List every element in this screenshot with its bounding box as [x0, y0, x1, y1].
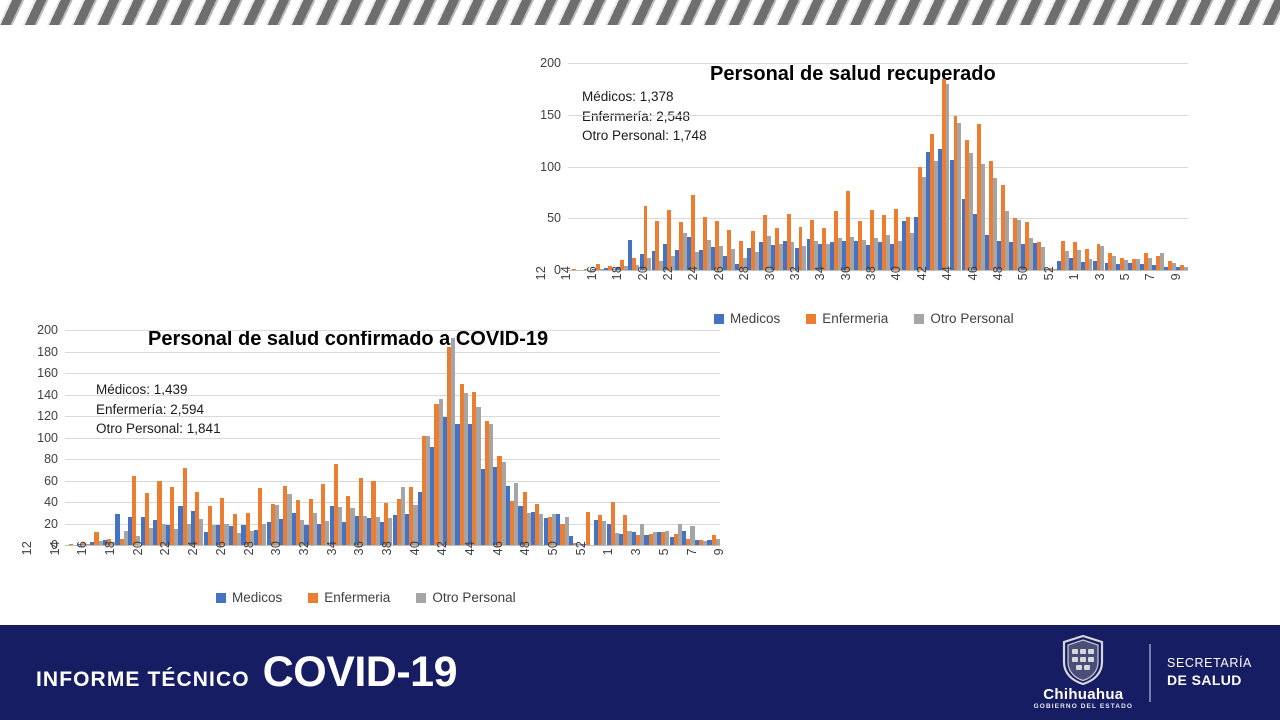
bar-group	[628, 63, 640, 270]
bar-group	[997, 63, 1009, 270]
x-axis-cell	[560, 541, 574, 555]
bar-group	[204, 330, 217, 545]
bar-group	[878, 63, 890, 270]
x-axis-cell	[1157, 266, 1168, 280]
x-axis-cell: 3	[1093, 266, 1107, 280]
x-axis: 1214161820222426283032343638404244464850…	[534, 266, 1194, 280]
legend-swatch-otro-personal	[914, 314, 924, 324]
x-axis-tick-label: 42	[915, 266, 929, 280]
y-axis-tick-label: 80	[44, 452, 65, 466]
x-axis-tick-label: 28	[242, 541, 256, 555]
x-axis-tick-label: 20	[131, 541, 145, 555]
x-axis-cell	[256, 541, 270, 555]
x-axis-cell	[827, 266, 838, 280]
legend-label-medicos: Medicos	[232, 590, 282, 605]
bar-group	[616, 63, 628, 270]
bar-group	[592, 63, 604, 270]
gobierno-chihuahua-logo: Chihuahua GOBIERNO DEL ESTADO	[1034, 635, 1133, 710]
bar-group	[854, 63, 866, 270]
x-axis-cell	[878, 266, 889, 280]
bar-group	[78, 330, 91, 545]
x-axis-cell	[145, 541, 159, 555]
x-axis-cell: 16	[75, 541, 89, 555]
x-axis-cell	[1107, 266, 1118, 280]
decorative-stripe-band	[0, 0, 1280, 25]
x-axis-cell	[903, 266, 914, 280]
x-axis-tick-label: 9	[1169, 266, 1183, 280]
x-axis-tick-label: 1	[601, 541, 615, 555]
x-axis-cell: 42	[915, 266, 929, 280]
x-axis-cell: 30	[763, 266, 777, 280]
bar-group	[1152, 63, 1164, 270]
bar-group	[468, 330, 481, 545]
x-axis-cell: 38	[380, 541, 394, 555]
chart-legend: Medicos Enfermeria Otro Personal	[216, 590, 516, 605]
footer-title: INFORME TÉCNICO COVID-19	[36, 648, 457, 697]
x-axis-tick-label: 48	[991, 266, 1005, 280]
bar-group	[644, 330, 657, 545]
bar-group	[405, 330, 418, 545]
x-axis-tick-label: 50	[1016, 266, 1030, 280]
y-axis-tick-label: 20	[44, 517, 65, 531]
bar-group	[569, 330, 582, 545]
x-axis-tick-label: 7	[1143, 266, 1157, 280]
bar-group	[985, 63, 997, 270]
chart-personal-recuperado: Personal de salud recuperado Médicos: 1,…	[534, 55, 1194, 340]
x-axis-tick-label: 5	[1118, 266, 1132, 280]
footer-bar: INFORME TÉCNICO COVID-19 Chihuahua	[0, 625, 1280, 720]
bar-group	[493, 330, 506, 545]
x-axis-cell: 34	[813, 266, 827, 280]
legend-swatch-enfermeria	[806, 314, 816, 324]
x-axis-cell: 50	[546, 541, 560, 555]
x-axis-cell	[62, 541, 76, 555]
bar-group	[241, 330, 254, 545]
x-axis-tick-label: 38	[864, 266, 878, 280]
x-axis-tick-label: 14	[559, 266, 573, 280]
footer-main-title: COVID-19	[263, 648, 457, 697]
bar-group	[1164, 63, 1176, 270]
bar-group	[687, 63, 699, 270]
x-axis-cell: 24	[686, 266, 700, 280]
x-axis-tick-label: 3	[1093, 266, 1107, 280]
bar-group	[973, 63, 985, 270]
bar-group	[1116, 63, 1128, 270]
x-axis-cell: 9	[712, 541, 726, 555]
bar-group	[153, 330, 166, 545]
x-axis-cell	[726, 266, 737, 280]
x-axis-cell: 32	[788, 266, 802, 280]
bar-group	[329, 330, 342, 545]
bar-group	[556, 330, 569, 545]
x-axis-cell: 18	[103, 541, 117, 555]
x-axis-cell: 36	[352, 541, 366, 555]
x-axis-cell	[954, 266, 965, 280]
x-axis-cell	[588, 541, 602, 555]
x-axis-cell	[699, 541, 713, 555]
x-axis-tick-label: 20	[636, 266, 650, 280]
x-axis-cell: 22	[661, 266, 675, 280]
bar-group	[1021, 63, 1033, 270]
bar-group	[759, 63, 771, 270]
bar-group	[580, 63, 592, 270]
bar-group	[1128, 63, 1140, 270]
y-axis-tick-label: 150	[540, 108, 568, 122]
shield-icon	[1062, 635, 1104, 685]
x-axis-tick-label: 44	[463, 541, 477, 555]
x-axis-cell	[366, 541, 380, 555]
x-axis-cell	[726, 541, 740, 555]
x-axis-cell: 50	[1016, 266, 1030, 280]
bar-group	[663, 63, 675, 270]
y-axis-tick-label: 180	[37, 345, 65, 359]
x-axis-cell: 28	[737, 266, 751, 280]
bar-group	[926, 63, 938, 270]
bar-group	[771, 63, 783, 270]
x-axis-tick-label: 22	[661, 266, 675, 280]
x-axis-cell: 22	[158, 541, 172, 555]
x-axis-tick-label: 3	[629, 541, 643, 555]
bar-group	[1033, 63, 1045, 270]
x-axis-cell	[228, 541, 242, 555]
x-axis-tick-label: 46	[491, 541, 505, 555]
y-axis-tick-label: 40	[44, 495, 65, 509]
x-axis-tick-label: 38	[380, 541, 394, 555]
x-axis-cell	[802, 266, 813, 280]
x-axis-cell: 32	[297, 541, 311, 555]
x-axis-cell: 40	[889, 266, 903, 280]
x-axis-cell: 34	[325, 541, 339, 555]
x-axis-cell	[853, 266, 864, 280]
y-axis-tick-label: 50	[547, 211, 568, 225]
x-axis-cell: 20	[131, 541, 145, 555]
x-axis: 1214161820222426283032343638404244464850…	[20, 541, 740, 555]
x-axis-cell: 36	[839, 266, 853, 280]
bar-group	[682, 330, 695, 545]
bar-group	[115, 330, 128, 545]
bar-group	[830, 63, 842, 270]
legend-swatch-enfermeria	[308, 593, 318, 603]
x-axis-cell: 38	[864, 266, 878, 280]
logo-divider	[1149, 644, 1151, 702]
x-axis-tick-label: 36	[839, 266, 853, 280]
x-axis-tick-label: 14	[48, 541, 62, 555]
x-axis-tick-label: 40	[889, 266, 903, 280]
bar-group	[866, 63, 878, 270]
legend-item-otro-personal: Otro Personal	[914, 311, 1013, 326]
x-axis-tick-label: 32	[788, 266, 802, 280]
x-axis-tick-label: 18	[610, 266, 624, 280]
x-axis-cell: 26	[214, 541, 228, 555]
bar-group	[1093, 63, 1105, 270]
x-axis-tick-label: 12	[534, 266, 548, 280]
x-axis-cell	[505, 541, 519, 555]
bar-group	[1140, 63, 1152, 270]
legend-item-otro-personal: Otro Personal	[416, 590, 515, 605]
bar-group	[166, 330, 179, 545]
x-axis-cell	[477, 541, 491, 555]
x-axis-tick-label: 28	[737, 266, 751, 280]
x-axis-tick-label: 26	[214, 541, 228, 555]
x-axis-tick-label: 24	[686, 266, 700, 280]
bar-groups	[65, 330, 720, 545]
bar-group	[657, 330, 670, 545]
secretaria-de-salud-logo: SECRETARÍA DE SALUD	[1167, 656, 1252, 688]
x-axis-cell	[532, 541, 546, 555]
x-axis-cell	[117, 541, 131, 555]
x-axis-cell: 5	[1118, 266, 1132, 280]
bar-group	[141, 330, 154, 545]
bar-group	[1009, 63, 1021, 270]
chart-personal-confirmado: Personal de salud confirmado a COVID-19 …	[20, 322, 740, 617]
plot-area: 020406080100120140160180200	[65, 330, 720, 545]
bar-group	[607, 330, 620, 545]
x-axis-cell: 48	[518, 541, 532, 555]
x-axis-tick-label: 42	[435, 541, 449, 555]
x-axis-tick-label: 12	[20, 541, 34, 555]
bar-group	[632, 330, 645, 545]
bar-group	[747, 63, 759, 270]
x-axis-cell: 52	[1042, 266, 1056, 280]
x-axis-cell: 44	[940, 266, 954, 280]
bar-group	[304, 330, 317, 545]
bar-group	[670, 330, 683, 545]
x-axis-cell	[548, 266, 559, 280]
x-axis-cell: 26	[712, 266, 726, 280]
x-axis-tick-label: 22	[158, 541, 172, 555]
legend-label-enfermeria: Enfermeria	[324, 590, 390, 605]
bar-group	[806, 63, 818, 270]
bar-group	[735, 63, 747, 270]
x-axis-cell: 3	[629, 541, 643, 555]
footer-logos: Chihuahua GOBIERNO DEL ESTADO SECRETARÍA…	[1034, 625, 1252, 720]
legend-swatch-otro-personal	[416, 593, 426, 603]
x-axis-tick-label: 52	[574, 541, 588, 555]
x-axis-tick-label: 32	[297, 541, 311, 555]
x-axis-tick-label: 36	[352, 541, 366, 555]
x-axis-cell: 46	[966, 266, 980, 280]
bar-group	[695, 330, 708, 545]
bar-enfermeria	[132, 476, 136, 545]
x-axis-cell	[422, 541, 436, 555]
x-axis-cell	[643, 541, 657, 555]
x-axis-cell	[671, 541, 685, 555]
bar-group	[890, 63, 902, 270]
bar-group	[481, 330, 494, 545]
x-axis-cell	[1132, 266, 1143, 280]
y-axis-tick-label: 60	[44, 474, 65, 488]
plot-area: 050100150200	[568, 63, 1188, 270]
bar-groups	[568, 63, 1188, 270]
bar-group	[842, 63, 854, 270]
bar-group	[795, 63, 807, 270]
y-axis-tick-label: 140	[37, 388, 65, 402]
bar-group	[455, 330, 468, 545]
x-axis-cell: 18	[610, 266, 624, 280]
bar-group	[191, 330, 204, 545]
x-axis-tick-label: 52	[1042, 266, 1056, 280]
bar-group	[380, 330, 393, 545]
bar-group	[90, 330, 103, 545]
bar-group	[711, 63, 723, 270]
bar-group	[128, 330, 141, 545]
bar-group	[506, 330, 519, 545]
x-axis-cell	[172, 541, 186, 555]
bar-group	[1045, 63, 1057, 270]
chart-legend: Medicos Enfermeria Otro Personal	[714, 311, 1014, 326]
x-axis-cell: 7	[685, 541, 699, 555]
bar-group	[342, 330, 355, 545]
bar-group	[594, 330, 607, 545]
bar-group	[675, 63, 687, 270]
x-axis-tick-label: 7	[685, 541, 699, 555]
bar-enfermeria	[586, 512, 590, 545]
x-axis-cell: 9	[1169, 266, 1183, 280]
x-axis-cell: 1	[1067, 266, 1081, 280]
x-axis-cell	[1056, 266, 1067, 280]
bar-group	[392, 330, 405, 545]
x-axis-tick-label: 5	[657, 541, 671, 555]
bar-group	[818, 63, 830, 270]
bar-group	[1081, 63, 1093, 270]
secretaria-line1: SECRETARÍA	[1167, 656, 1252, 671]
x-axis-tick-label: 24	[186, 541, 200, 555]
bar-group	[723, 63, 735, 270]
x-axis-cell: 12	[20, 541, 34, 555]
x-axis-cell: 30	[269, 541, 283, 555]
bar-group	[619, 330, 632, 545]
bar-group	[581, 330, 594, 545]
bar-group	[699, 63, 711, 270]
legend-item-enfermeria: Enfermeria	[308, 590, 390, 605]
bar-group	[950, 63, 962, 270]
legend-label-otro-personal: Otro Personal	[432, 590, 515, 605]
y-axis-tick-label: 100	[37, 431, 65, 445]
legend-label-enfermeria: Enfermeria	[822, 311, 888, 326]
x-axis-cell	[89, 541, 103, 555]
bar-group	[1104, 63, 1116, 270]
x-axis-cell	[777, 266, 788, 280]
x-axis-tick-label: 30	[763, 266, 777, 280]
x-axis-cell	[573, 266, 584, 280]
x-axis-cell: 28	[242, 541, 256, 555]
bar-group	[254, 330, 267, 545]
bar-group	[418, 330, 431, 545]
bar-group	[544, 330, 557, 545]
x-axis-cell	[1183, 266, 1194, 280]
x-axis-cell	[751, 266, 762, 280]
bar-group	[707, 330, 720, 545]
x-axis-tick-label: 46	[966, 266, 980, 280]
x-axis-cell	[615, 541, 629, 555]
footer-kicker: INFORME TÉCNICO	[36, 668, 250, 692]
x-axis-tick-label: 16	[585, 266, 599, 280]
bar-group	[604, 63, 616, 270]
legend-item-medicos: Medicos	[216, 590, 282, 605]
bar-group	[518, 330, 531, 545]
bar-group	[1176, 63, 1188, 270]
x-axis-tick-label: 50	[546, 541, 560, 555]
y-axis-tick-label: 200	[37, 323, 65, 337]
secretaria-line2: DE SALUD	[1167, 672, 1252, 689]
x-axis-tick-label: 40	[408, 541, 422, 555]
x-axis-cell: 12	[534, 266, 548, 280]
x-axis-cell	[624, 266, 635, 280]
x-axis-tick-label: 16	[75, 541, 89, 555]
x-axis-cell: 14	[559, 266, 573, 280]
x-axis-cell: 40	[408, 541, 422, 555]
x-axis-cell: 5	[657, 541, 671, 555]
x-axis-cell	[650, 266, 661, 280]
x-axis-cell	[980, 266, 991, 280]
x-axis-cell	[700, 266, 711, 280]
y-axis-tick-label: 160	[37, 366, 65, 380]
gobierno-subtitle: GOBIERNO DEL ESTADO	[1034, 703, 1133, 710]
bar-group	[1069, 63, 1081, 270]
x-axis-tick-label: 18	[103, 541, 117, 555]
bar-group	[229, 330, 242, 545]
bar-group	[640, 63, 652, 270]
bar-group	[279, 330, 292, 545]
x-axis-tick-label: 9	[712, 541, 726, 555]
bar-group	[65, 330, 78, 545]
x-axis-cell	[1081, 266, 1092, 280]
bar-group	[443, 330, 456, 545]
x-axis-cell: 20	[636, 266, 650, 280]
x-axis-tick-label: 44	[940, 266, 954, 280]
bar-group	[651, 63, 663, 270]
y-axis-tick-label: 100	[540, 160, 568, 174]
x-axis-cell: 48	[991, 266, 1005, 280]
x-axis-cell: 52	[574, 541, 588, 555]
bar-group	[914, 63, 926, 270]
bar-group	[292, 330, 305, 545]
x-axis-cell: 44	[463, 541, 477, 555]
bar-group	[961, 63, 973, 270]
x-axis-tick-label: 26	[712, 266, 726, 280]
legend-item-enfermeria: Enfermeria	[806, 311, 888, 326]
bar-group	[216, 330, 229, 545]
bar-group	[178, 330, 191, 545]
x-axis-tick-label: 34	[813, 266, 827, 280]
bar-group	[938, 63, 950, 270]
x-axis-cell: 1	[601, 541, 615, 555]
x-axis-tick-label: 48	[518, 541, 532, 555]
bar-group	[902, 63, 914, 270]
x-axis-cell	[449, 541, 463, 555]
x-axis-cell	[675, 266, 686, 280]
bar-group	[568, 63, 580, 270]
bar-group	[531, 330, 544, 545]
bar-group	[355, 330, 368, 545]
y-axis-tick-label: 200	[540, 56, 568, 70]
x-axis-cell: 14	[48, 541, 62, 555]
gobierno-name: Chihuahua	[1043, 686, 1123, 703]
x-axis-cell: 46	[491, 541, 505, 555]
legend-label-otro-personal: Otro Personal	[930, 311, 1013, 326]
x-axis-cell	[34, 541, 48, 555]
x-axis-cell	[200, 541, 214, 555]
bar-group	[367, 330, 380, 545]
x-axis-tick-label: 30	[269, 541, 283, 555]
x-axis-cell	[1005, 266, 1016, 280]
x-axis-cell	[394, 541, 408, 555]
bar-group	[317, 330, 330, 545]
x-axis-tick-label: 1	[1067, 266, 1081, 280]
bar-group	[1057, 63, 1069, 270]
x-axis-cell: 7	[1143, 266, 1157, 280]
x-axis-cell	[311, 541, 325, 555]
